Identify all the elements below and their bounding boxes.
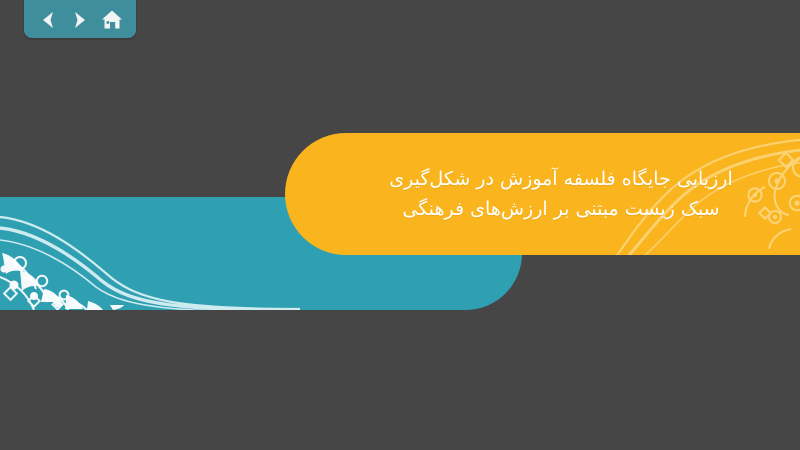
triangle-left-icon: [38, 10, 58, 30]
slide-title-line-1: ارزیابی جایگاه فلسفه آموزش در شکل‌گیری: [389, 164, 732, 194]
slide-title-line-2: سبک زیست مبتنی بر ارزش‌های فرهنگی: [402, 194, 719, 224]
previous-slide-button[interactable]: [37, 8, 59, 32]
slide-title-banner: ارزیابی جایگاه فلسفه آموزش در شکل‌گیری س…: [285, 133, 800, 255]
slide-title: ارزیابی جایگاه فلسفه آموزش در شکل‌گیری س…: [285, 133, 800, 255]
triangle-right-icon: [70, 10, 90, 30]
next-slide-button[interactable]: [69, 8, 91, 32]
slide-canvas: ارزیابی جایگاه فلسفه آموزش در شکل‌گیری س…: [0, 0, 800, 450]
home-icon: [101, 9, 123, 31]
home-button[interactable]: [101, 8, 123, 32]
arabesque-corner-ornament: [0, 197, 300, 310]
slide-navigation-bar: [24, 0, 136, 38]
